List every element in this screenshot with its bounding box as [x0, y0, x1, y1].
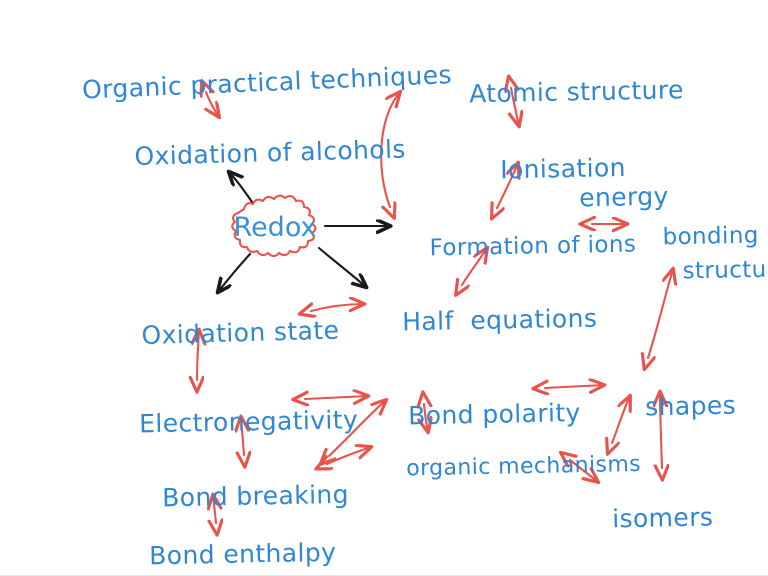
node-bond-enthalpy[interactable]: Bond enthalpy: [115, 511, 337, 576]
node-label: Formation of ions: [429, 231, 636, 261]
node-half-equations[interactable]: Half equations: [368, 277, 598, 365]
node-label: Organic practical techniques: [81, 60, 452, 104]
link-redox-to-oxidation-state: [218, 254, 250, 292]
node-oxidation-of-alcohols[interactable]: Oxidation of alcohols: [100, 107, 407, 199]
node-label: Half equations: [402, 304, 598, 337]
node-label: Bond breaking: [162, 480, 349, 513]
central-node-redox[interactable]: Redox: [222, 197, 328, 257]
node-oxidation-state[interactable]: Oxidation state: [107, 289, 340, 379]
node-label: Electronegativity: [139, 405, 359, 438]
node-label: Bond enthalpy: [149, 538, 337, 571]
node-bonding-structure-line2[interactable]: structure: [651, 231, 768, 311]
node-label: Atomic structure: [469, 75, 684, 108]
node-isomers[interactable]: isomers: [578, 475, 714, 562]
node-label: Bond polarity: [408, 398, 581, 430]
central-node-label: Redox: [234, 212, 317, 243]
node-label: Oxidation state: [141, 316, 340, 351]
node-label: isomers: [612, 502, 714, 533]
node-label: shapes: [645, 391, 736, 422]
node-label-line-2: structure: [682, 256, 768, 284]
node-atomic-structure[interactable]: Atomic structure: [435, 48, 685, 137]
mindmap-canvas: Redox Organic practical techniques Oxida…: [0, 0, 768, 576]
node-formation-of-ions[interactable]: Formation of ions: [398, 206, 637, 288]
node-label: Oxidation of alcohols: [134, 134, 406, 171]
